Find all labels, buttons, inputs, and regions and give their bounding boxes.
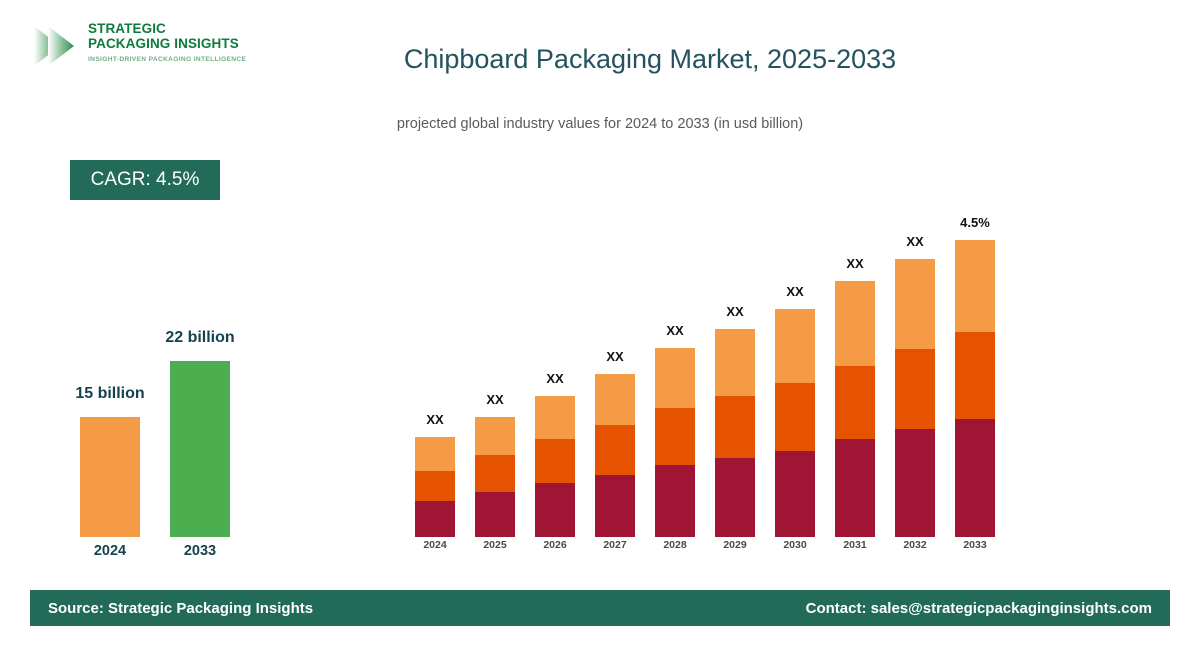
- stacked-segment[interactable]: [775, 309, 815, 383]
- stacked-segment[interactable]: [535, 439, 575, 483]
- stacked-segment[interactable]: [955, 332, 995, 419]
- stacked-segment[interactable]: [715, 458, 755, 537]
- stacked-column: XX2032: [895, 0, 935, 537]
- stacked-column: XX2031: [835, 0, 875, 537]
- stacked-segment[interactable]: [475, 492, 515, 537]
- stacked-value-label: XX: [515, 371, 595, 386]
- stacked-column: XX2024: [415, 0, 455, 537]
- stacked-column: XX2025: [475, 0, 515, 537]
- footer-contact[interactable]: Contact: sales@strategicpackaginginsight…: [806, 600, 1152, 617]
- stacked-value-label: XX: [455, 392, 535, 407]
- stacked-segment[interactable]: [595, 475, 635, 537]
- stacked-segment[interactable]: [895, 429, 935, 537]
- stacked-value-label: XX: [575, 349, 655, 364]
- stacked-segment[interactable]: [655, 408, 695, 465]
- stacked-value-label: XX: [755, 284, 835, 299]
- comparison-bar[interactable]: [170, 361, 230, 537]
- comparison-value-label: 22 billion: [120, 329, 280, 347]
- stacked-segment[interactable]: [835, 439, 875, 537]
- stacked-column: XX2028: [655, 0, 695, 537]
- stacked-column: XX2027: [595, 0, 635, 537]
- comparison-year-label: 2033: [120, 543, 280, 559]
- segment-forecast-stacked-chart: XX2024XX2025XX2026XX2027XX2028XX2029XX20…: [390, 0, 1070, 600]
- stacked-segment[interactable]: [415, 501, 455, 537]
- stacked-value-label: XX: [395, 412, 475, 427]
- comparison-column: 22 billion2033: [170, 0, 230, 537]
- stacked-segment[interactable]: [415, 437, 455, 471]
- comparison-column: 15 billion2024: [80, 0, 140, 537]
- stacked-segment[interactable]: [415, 471, 455, 501]
- stacked-segment[interactable]: [475, 455, 515, 492]
- stacked-segment[interactable]: [655, 348, 695, 408]
- stacked-segment[interactable]: [715, 396, 755, 458]
- stacked-segment[interactable]: [775, 451, 815, 537]
- stacked-column: XX2029: [715, 0, 755, 537]
- stacked-column: XX2026: [535, 0, 575, 537]
- stacked-segment[interactable]: [835, 281, 875, 366]
- stacked-year-label: 2033: [935, 539, 1015, 551]
- stacked-segment[interactable]: [775, 383, 815, 451]
- stacked-segment[interactable]: [955, 419, 995, 537]
- stacked-value-label: XX: [875, 234, 955, 249]
- footer-bar: Source: Strategic Packaging Insights Con…: [30, 590, 1170, 626]
- stacked-segment[interactable]: [475, 417, 515, 455]
- stacked-value-label: XX: [815, 256, 895, 271]
- stacked-segment[interactable]: [715, 329, 755, 396]
- stacked-segment[interactable]: [895, 349, 935, 429]
- stacked-value-label: 4.5%: [935, 215, 1015, 230]
- stacked-segment[interactable]: [595, 425, 635, 475]
- stacked-segment[interactable]: [655, 465, 695, 537]
- stacked-value-label: XX: [635, 323, 715, 338]
- market-size-comparison-chart: 15 billion202422 billion2033: [0, 0, 330, 600]
- stacked-column: XX2030: [775, 0, 815, 537]
- stacked-column: 4.5%2033: [955, 0, 995, 537]
- comparison-value-label: 15 billion: [30, 385, 190, 403]
- stacked-segment[interactable]: [835, 366, 875, 439]
- stacked-segment[interactable]: [955, 240, 995, 332]
- comparison-bar[interactable]: [80, 417, 140, 537]
- stacked-value-label: XX: [695, 304, 775, 319]
- footer-source: Source: Strategic Packaging Insights: [48, 600, 313, 617]
- stacked-segment[interactable]: [895, 259, 935, 349]
- stacked-segment[interactable]: [595, 374, 635, 425]
- stacked-segment[interactable]: [535, 483, 575, 537]
- stacked-segment[interactable]: [535, 396, 575, 439]
